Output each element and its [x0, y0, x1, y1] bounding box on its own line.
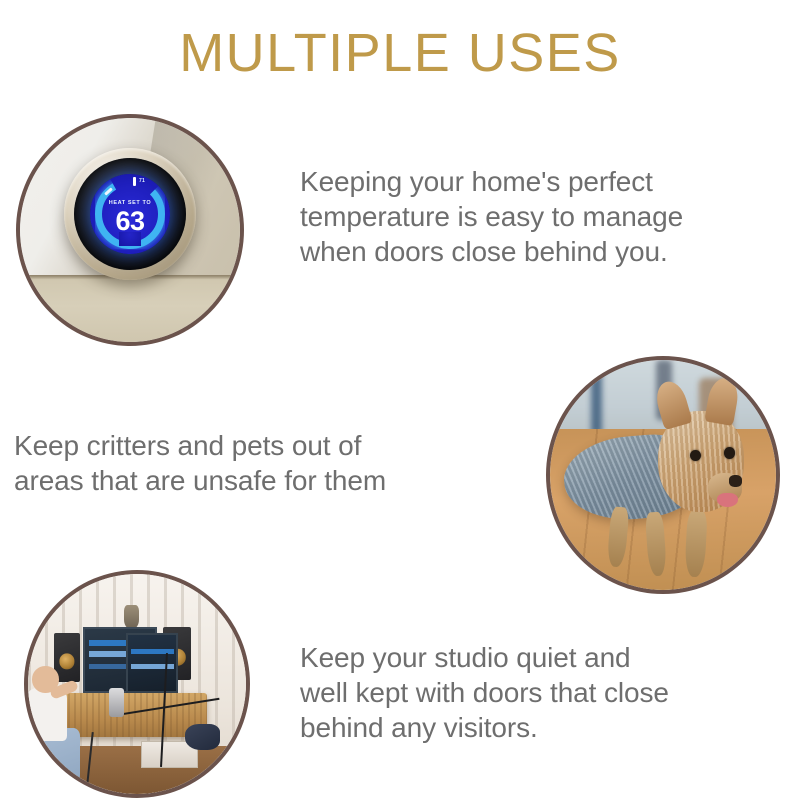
copy-studio-line-3: behind any visitors. [300, 710, 794, 745]
copy-thermostat-line-2: temperature is easy to manage [300, 199, 794, 234]
photo-studio [24, 570, 250, 798]
speaker-cone-icon [60, 654, 75, 669]
shelf-vase [124, 605, 139, 629]
photo-studio-inner [28, 574, 246, 794]
current-temp-tick-icon [133, 177, 136, 186]
copy-thermostat-line-3: when doors close behind you. [300, 234, 794, 269]
clothes-pile [185, 724, 220, 750]
copy-thermostat-line-1: Keeping your home's perfect [300, 164, 794, 199]
photo-dog-inner [550, 360, 776, 590]
copy-pets-line-1: Keep critters and pets out of [14, 428, 514, 463]
floor-surface [20, 275, 240, 342]
copy-studio: Keep your studio quiet and well kept wit… [300, 640, 794, 745]
copy-thermostat: Keeping your home's perfect temperature … [300, 164, 794, 269]
background-object-a [591, 365, 602, 434]
copy-studio-line-2: well kept with doors that close [300, 675, 794, 710]
dog-nose [729, 475, 743, 487]
thermostat-display: 71 HEAT SET TO 63 [90, 174, 170, 254]
set-temperature-value: 63 [90, 206, 170, 236]
thermostat-bezel: 71 HEAT SET TO 63 [74, 158, 186, 270]
microphone [109, 688, 124, 717]
photo-thermostat: 71 HEAT SET TO 63 [16, 114, 244, 346]
dog-scene [550, 360, 776, 590]
infographic-page: MULTIPLE USES 71 HEAT SET TO 63 [0, 0, 800, 800]
studio-scene [28, 574, 246, 794]
page-title: MULTIPLE USES [0, 22, 800, 84]
dog-tongue [717, 493, 737, 507]
current-temperature-label: 71 [139, 178, 145, 185]
thermostat-device: 71 HEAT SET TO 63 [64, 148, 196, 280]
copy-studio-line-1: Keep your studio quiet and [300, 640, 794, 675]
copy-pets-line-2: areas that are unsafe for them [14, 463, 514, 498]
photo-thermostat-inner: 71 HEAT SET TO 63 [20, 118, 240, 342]
computer-display-secondary [126, 633, 178, 692]
photo-dog [546, 356, 780, 594]
copy-pets: Keep critters and pets out of areas that… [14, 428, 514, 498]
